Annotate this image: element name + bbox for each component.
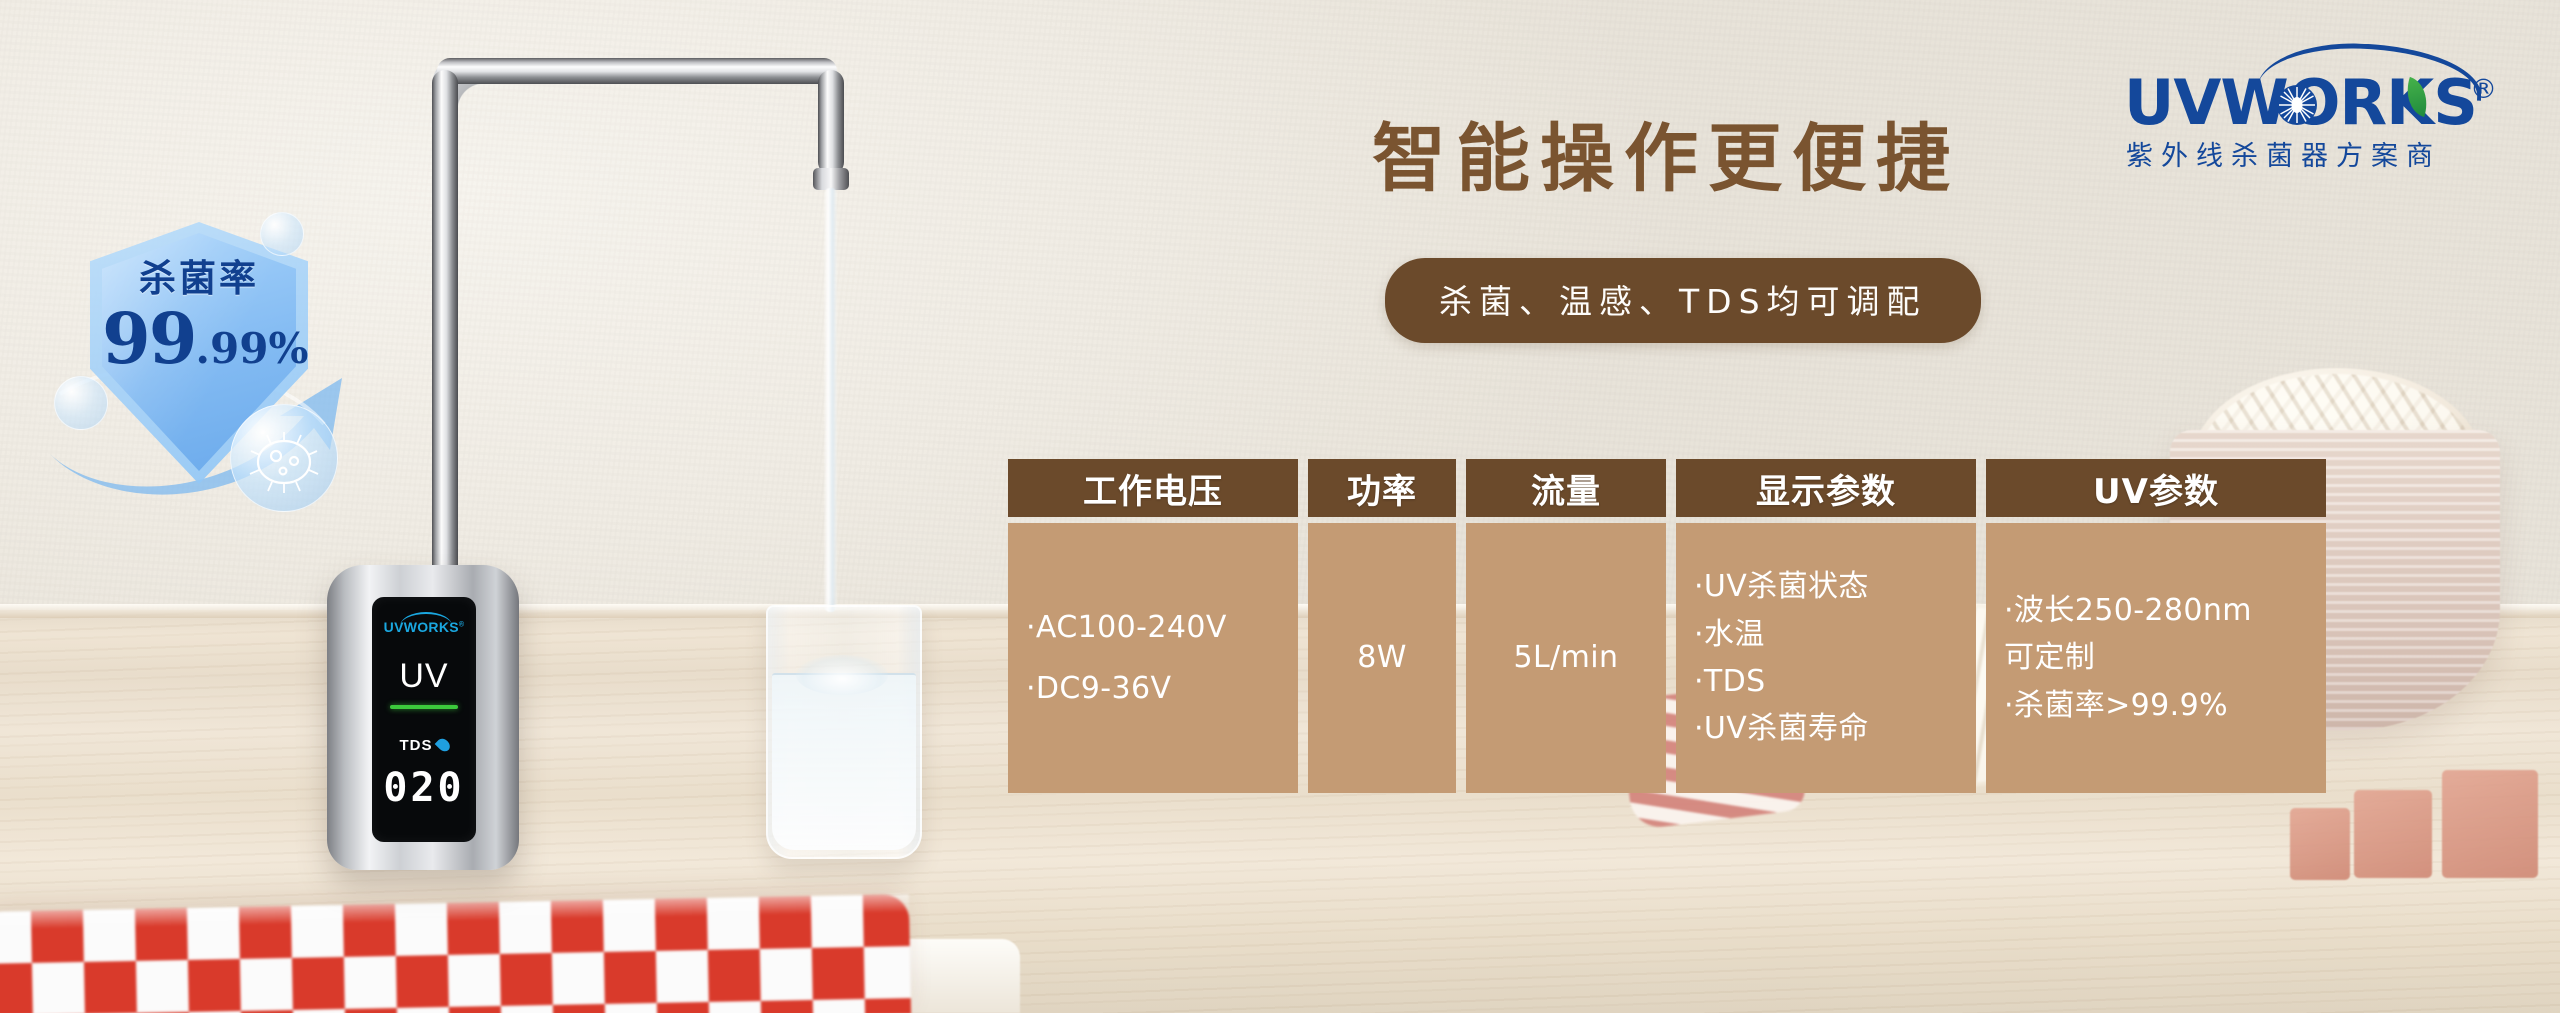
faucet-arm	[437, 58, 837, 84]
pink-block-decor	[2354, 790, 2432, 878]
display-brand-logo: UVWORKS®	[372, 619, 476, 635]
device-display: UVWORKS® UV TDS 020	[372, 597, 476, 842]
spec-column-header: 工作电压	[1008, 459, 1298, 517]
uv-sterilizer-device: UVWORKS® UV TDS 020	[327, 565, 519, 870]
spec-column-5: UV参数·波长250-280nm可定制·杀菌率>99.9%	[1986, 459, 2326, 793]
glass-water-level	[772, 673, 916, 850]
spec-column-cell: ·波长250-280nm可定制·杀菌率>99.9%	[1986, 523, 2326, 793]
sterilization-rate-badge: 杀菌率 99.99%	[52, 208, 352, 513]
spec-table: 工作电压·AC100-240V·DC9-36V功率8W流量5L/min显示参数·…	[1008, 459, 2300, 793]
display-tds-value: 020	[372, 765, 476, 811]
spec-column-3: 流量5L/min	[1466, 459, 1666, 793]
spec-line: 5L/min	[1514, 634, 1619, 681]
spec-column-header: 功率	[1308, 459, 1456, 517]
spec-column-header: 流量	[1466, 459, 1666, 517]
spec-line: 可定制	[2004, 634, 2308, 681]
pink-block-decor	[2442, 770, 2538, 878]
badge-text-group: 杀菌率 99.99%	[102, 260, 296, 374]
water-splash	[796, 655, 888, 695]
spec-column-cell: 8W	[1308, 523, 1456, 793]
faucet-riser	[432, 70, 458, 630]
faucet-downspout	[818, 70, 844, 175]
spec-line: ·水温	[1694, 611, 1958, 658]
spec-column-1: 工作电压·AC100-240V·DC9-36V	[1008, 459, 1298, 793]
badge-value-main: 99	[102, 297, 195, 380]
water-stream	[824, 188, 837, 612]
spec-column-cell: ·UV杀菌状态·水温·TDS·UV杀菌寿命	[1676, 523, 1976, 793]
bubble-icon	[54, 376, 108, 430]
badge-label: 杀菌率	[102, 260, 296, 297]
checkered-cloth-decor	[0, 894, 911, 1013]
spec-column-2: 功率8W	[1308, 459, 1456, 793]
display-tds-label: TDS	[372, 737, 476, 754]
water-glass	[766, 605, 922, 859]
spec-column-header: UV参数	[1986, 459, 2326, 517]
spec-line: ·波长250-280nm	[2004, 587, 2308, 634]
spec-column-header: 显示参数	[1676, 459, 1976, 517]
badge-value: 99.99%	[102, 304, 296, 374]
badge-value-decimal: .99%	[195, 324, 308, 373]
spec-line: ·TDS	[1694, 658, 1958, 705]
spec-column-cell: 5L/min	[1466, 523, 1666, 793]
microbe-icon	[231, 405, 337, 511]
sunburst-icon	[2276, 84, 2318, 126]
faucet-nozzle	[813, 168, 849, 190]
spec-line: ·UV杀菌状态	[1694, 563, 1958, 610]
tds-text: TDS	[400, 737, 433, 754]
spec-line: ·UV杀菌寿命	[1694, 705, 1958, 752]
pink-block-decor	[2290, 808, 2350, 880]
logo-arc-icon	[400, 612, 452, 626]
spec-line: 8W	[1357, 634, 1407, 681]
spec-column-cell: ·AC100-240V·DC9-36V	[1008, 523, 1298, 793]
brand-logo: UVWORKS ® 紫外线杀菌器方案商	[2118, 38, 2518, 170]
logo-subtitle: 紫外线杀菌器方案商	[2126, 134, 2506, 173]
display-registered-mark: ®	[459, 621, 464, 628]
display-status-bar	[390, 705, 458, 709]
water-droplet-icon	[434, 736, 452, 754]
display-mode-label: UV	[372, 657, 476, 696]
page-title: 智能操作更便捷	[1372, 122, 1960, 196]
bubble-icon	[260, 212, 304, 256]
germ-bubble	[230, 404, 338, 512]
spec-line: ·杀菌率>99.9%	[2004, 682, 2308, 729]
product-banner: 杀菌率 99.99%	[0, 0, 2560, 1013]
subtitle-pill: 杀菌、温感、TDS均可调配	[1385, 258, 1981, 343]
registered-trademark-icon: ®	[2470, 74, 2497, 105]
spec-column-4: 显示参数·UV杀菌状态·水温·TDS·UV杀菌寿命	[1676, 459, 1976, 793]
spec-line: ·DC9-36V	[1026, 665, 1280, 712]
spec-line: ·AC100-240V	[1026, 604, 1280, 651]
